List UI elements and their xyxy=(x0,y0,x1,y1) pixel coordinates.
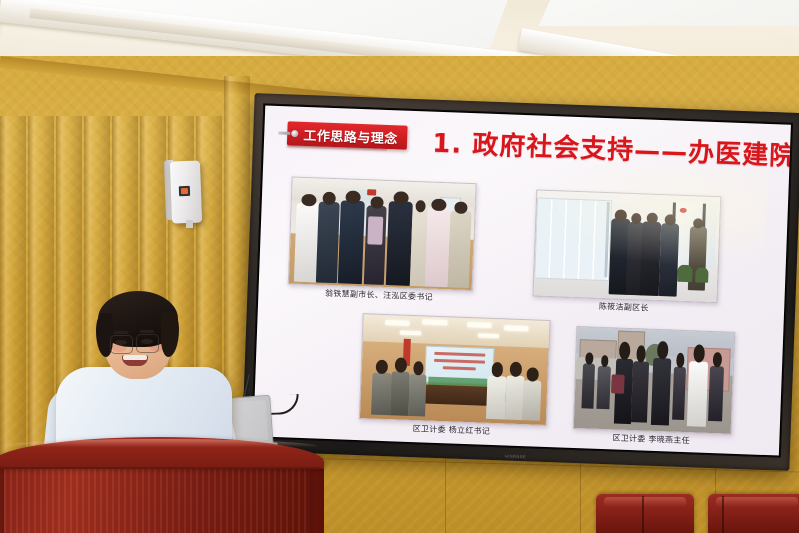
hallway-plant-1 xyxy=(677,265,692,282)
display-panel: 工作思路与理念 1. 政府社会支持——办医建院 xyxy=(251,103,793,457)
meeting-ceiling-light-2 xyxy=(423,319,447,325)
projection-text-line-2 xyxy=(434,359,485,364)
slide-canvas: 工作思路与理念 1. 政府社会支持——办医建院 xyxy=(253,105,791,455)
podium-front-panel xyxy=(4,463,310,533)
meeting-person-l2 xyxy=(390,371,410,415)
corridor-person-8 xyxy=(448,211,471,289)
chair-1-highlight xyxy=(604,497,686,508)
wall-panel-seam-2 xyxy=(445,454,446,533)
corridor-person-2 xyxy=(316,201,339,283)
speaker-podium xyxy=(0,437,324,533)
hallway-display-boards xyxy=(534,197,612,281)
meeting-person-l1 xyxy=(371,373,391,415)
podium-top-highlight xyxy=(0,439,318,447)
presenter-mouth xyxy=(122,355,148,366)
chair-2[interactable] xyxy=(708,494,799,533)
hallway-person-3 xyxy=(640,221,661,296)
chair-1-seam xyxy=(642,496,644,533)
outdoor-person-5 xyxy=(651,358,671,426)
hallway-person-4 xyxy=(658,223,679,297)
slide-photo-grid: 翁铁慧副市长、汪泓区委书记 xyxy=(283,176,768,442)
meeting-person-r1 xyxy=(486,376,506,419)
photo-display-boards: 陈筱洁副区长 xyxy=(533,190,720,301)
corridor-red-sign xyxy=(367,189,376,196)
audience-chairs xyxy=(596,494,799,533)
presenter-brow-left xyxy=(114,331,128,334)
presenter-teeth xyxy=(123,355,147,360)
outdoor-person-2 xyxy=(597,366,611,409)
corridor-person-3 xyxy=(338,200,365,284)
display-brand-logo: HISENSE xyxy=(505,453,526,459)
presenter-brow-right xyxy=(140,330,154,333)
jbl-logo-icon xyxy=(179,186,190,196)
badge-bullet-icon xyxy=(291,130,298,137)
corridor-person-5 xyxy=(386,201,413,286)
chair-2-highlight xyxy=(716,497,798,508)
photo-outdoor-visit: 区卫计委 李晓燕主任 xyxy=(573,326,734,433)
podium-wood-grain xyxy=(4,463,310,533)
badge-stem-icon xyxy=(278,132,290,135)
outdoor-person-4 xyxy=(631,361,649,423)
outdoor-person-6 xyxy=(672,367,686,420)
presentation-room-scene: 工作思路与理念 1. 政府社会支持——办医建院 xyxy=(0,0,799,533)
corridor-person-7 xyxy=(424,208,451,288)
outdoor-person-3-bag xyxy=(611,375,624,394)
outdoor-person-1 xyxy=(581,363,595,408)
wall-speaker-bracket xyxy=(186,220,193,228)
meeting-ceiling-light-3 xyxy=(467,322,491,328)
hallway-plant-2 xyxy=(695,268,708,283)
photo-meeting-room-image xyxy=(359,313,550,426)
presenter-eye-left xyxy=(115,340,127,345)
presenter-hair-right xyxy=(161,311,179,357)
meeting-person-l3 xyxy=(408,374,426,416)
podium-top-surface xyxy=(0,437,324,467)
photo-outdoor-visit-image xyxy=(573,326,736,436)
meeting-person-r3 xyxy=(522,380,542,420)
meeting-ceiling-light-4 xyxy=(504,325,528,331)
slide-title: 1. 政府社会支持——办医建院 xyxy=(432,123,791,173)
outdoor-person-7 xyxy=(708,366,724,421)
chair-1[interactable] xyxy=(596,494,694,533)
projection-text-line-1 xyxy=(434,352,485,357)
presentation-display[interactable]: 工作思路与理念 1. 政府社会支持——办医建院 xyxy=(242,93,799,471)
photo-officials-corridor: 翁铁慧副市长、汪泓区委书记 xyxy=(288,176,475,289)
corridor-person-4-scarf xyxy=(367,216,383,244)
wall-panel-seam-3 xyxy=(580,452,581,533)
photo-officials-corridor-image xyxy=(288,176,477,291)
jbl-wall-speaker xyxy=(170,160,202,223)
outdoor-doctor-white-coat xyxy=(687,361,708,427)
photo-meeting-room: 区卫计委 杨立红书记 xyxy=(359,313,548,424)
projection-text-line-3 xyxy=(443,366,477,371)
photo-display-boards-image xyxy=(533,190,722,303)
ceiling-light-panel-2 xyxy=(539,0,799,26)
presenter-eye-right xyxy=(141,339,153,344)
slide-section-badge-label: 工作思路与理念 xyxy=(303,125,398,147)
chair-2-seam xyxy=(722,496,724,533)
meeting-ceiling-light-1 xyxy=(386,320,410,326)
